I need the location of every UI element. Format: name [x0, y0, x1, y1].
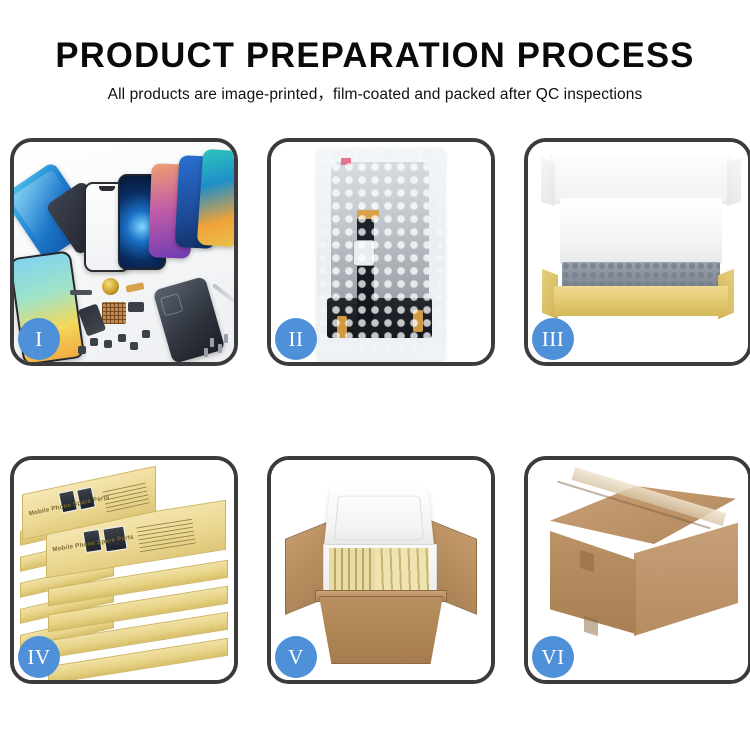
carton-front-face-icon: [550, 522, 636, 634]
carton-tab-icon: [584, 616, 598, 636]
process-step-panel-1[interactable]: I: [10, 138, 238, 366]
process-step-panel-2[interactable]: II: [267, 138, 495, 366]
flex-strip-icon: [125, 282, 144, 293]
page-title: PRODUCT PREPARATION PROCESS: [4, 0, 747, 76]
screw-icon: [224, 334, 228, 343]
speaker-part-icon: [70, 290, 92, 295]
chip-icon: [78, 346, 86, 354]
chip-icon: [90, 338, 98, 346]
process-step-grid: I II: [0, 136, 750, 696]
process-step-panel-3[interactable]: III: [524, 138, 750, 366]
screw-icon: [218, 344, 222, 353]
tweezers-icon: [212, 283, 234, 305]
page-header: PRODUCT PREPARATION PROCESS All products…: [0, 0, 750, 128]
coil-part-icon: [102, 278, 119, 295]
bubble-overlay-icon: [317, 148, 445, 360]
yellow-box-front-icon: [554, 286, 728, 316]
step-badge-3: III: [532, 318, 574, 360]
phone-teal-icon: [197, 149, 234, 248]
packed-yellow-boxes-icon: [329, 548, 429, 592]
carton-body-icon: [319, 596, 443, 664]
carton-tab-icon: [580, 550, 594, 572]
chip-icon: [130, 342, 138, 350]
process-step-panel-5[interactable]: V: [267, 456, 495, 684]
process-step-panel-4[interactable]: Mobile Phone Spare Parts Mobile Phone Sp…: [10, 456, 238, 684]
process-step-panel-6[interactable]: VI: [524, 456, 750, 684]
connector-icon: [128, 302, 144, 312]
chip-icon: [118, 334, 126, 342]
bubble-wrap-bag-icon: [317, 148, 445, 360]
step-badge-1: I: [18, 318, 60, 360]
step-badge-6: VI: [532, 636, 574, 678]
chip-icon: [104, 340, 112, 348]
white-foam-lid-icon: [550, 154, 732, 204]
foam-sheet-icon: [560, 198, 722, 264]
chip-icon: [142, 330, 150, 338]
step-badge-5: V: [275, 636, 317, 678]
page-subtitle: All products are image-printed，film-coat…: [0, 76, 750, 105]
styrofoam-lid-icon: [324, 488, 435, 549]
screw-icon: [210, 338, 214, 347]
step-badge-2: II: [275, 318, 317, 360]
mesh-part-icon: [102, 302, 126, 324]
screw-icon: [204, 348, 208, 357]
step-badge-4: IV: [18, 636, 60, 678]
